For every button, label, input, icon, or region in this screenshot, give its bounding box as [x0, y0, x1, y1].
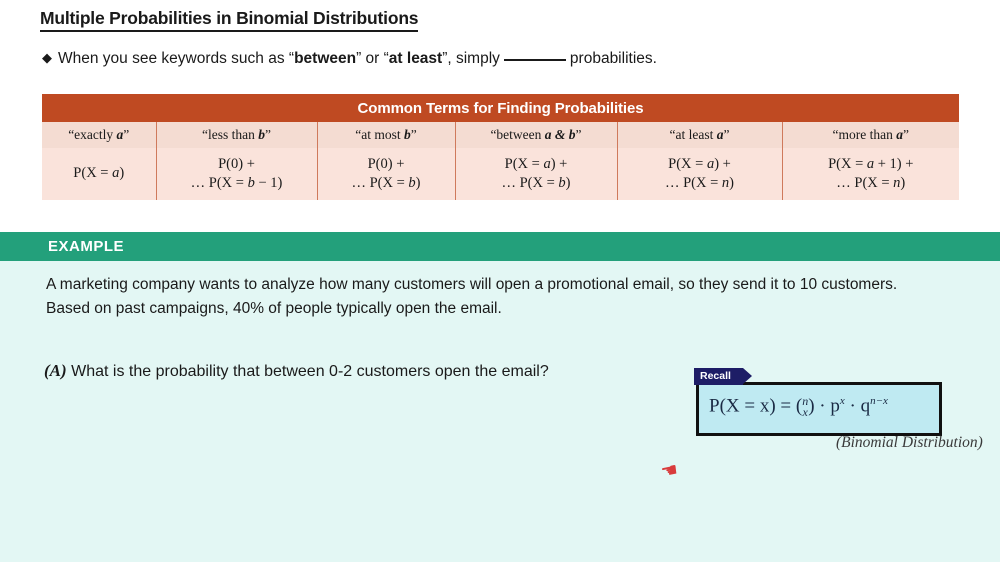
column-header-more-than-a: “more than a”	[782, 122, 959, 148]
formula-cell-exactly-a: P(X = a)	[42, 148, 156, 200]
table-formula-row: P(X = a) P(0) + … P(X = b − 1) P(0) + … …	[42, 148, 959, 200]
col5-header-var: a	[896, 127, 903, 142]
col3-header-post: ”	[576, 127, 582, 142]
formula-line-2: … P(X = b)	[458, 174, 615, 193]
formula-line-1: P(X = a) +	[620, 155, 780, 174]
col5-header-pre: “more than	[833, 127, 897, 142]
col0-header-pre: “exactly	[68, 127, 116, 142]
formula-cell-between-a-b: P(X = a) + … P(X = b)	[455, 148, 617, 200]
bullet-text-suffix: probabilities.	[570, 50, 657, 67]
column-header-less-than-b: “less than b”	[156, 122, 317, 148]
slide-top-section: Multiple Probabilities in Binomial Distr…	[0, 0, 1000, 232]
keyword-at-least: at least	[389, 50, 442, 67]
formula-exponent-n-minus-x: n−x	[870, 395, 888, 407]
bullet-text-after: ”, simply	[442, 50, 500, 67]
col5-header-post: ”	[903, 127, 909, 142]
f5-l1-pre: P(X =	[828, 156, 867, 172]
f1-l2-post: − 1)	[255, 175, 283, 191]
formula-line-1: P(X = a) +	[458, 155, 615, 174]
f3-l1-var: a	[543, 156, 550, 172]
recall-formula-card: P(X = x) = (nx) · px · qn−x	[696, 382, 942, 436]
col4-header-post: ”	[723, 127, 729, 142]
formula-cell-less-than-b: P(0) + … P(X = b − 1)	[156, 148, 317, 200]
f2-l2-post: )	[416, 175, 421, 191]
f3-l1-pre: P(X =	[505, 156, 544, 172]
example-banner: EXAMPLE	[0, 232, 1000, 261]
col3-header-pre: “between	[490, 127, 544, 142]
formula-line-1: P(X = a)	[44, 164, 154, 183]
f4-l1-post: ) +	[714, 156, 731, 172]
formula-cell-at-most-b: P(0) + … P(X = b)	[317, 148, 455, 200]
f3-l2-pre: … P(X =	[501, 175, 558, 191]
formula-line-2: … P(X = b − 1)	[159, 174, 315, 193]
binomial-formula: P(X = x) = (nx) · px · qn−x	[709, 395, 888, 418]
common-terms-table: Common Terms for Finding Probabilities “…	[42, 94, 959, 200]
table-header-row: “exactly a” “less than b” “at most b” “b…	[42, 122, 959, 148]
formula-line-1: P(0) +	[159, 155, 315, 174]
f2-l1-pre: P(0) +	[368, 156, 405, 172]
f5-l2-pre: … P(X =	[836, 175, 893, 191]
f5-l1-post: + 1) +	[874, 156, 913, 172]
formula-line-2: … P(X = n)	[620, 174, 780, 193]
table-title-row: Common Terms for Finding Probabilities	[42, 94, 959, 122]
fill-in-blank	[504, 48, 566, 61]
recall-caption: (Binomial Distribution)	[836, 434, 983, 452]
f1-l2-pre: … P(X =	[191, 175, 248, 191]
formula-mid: · q	[845, 395, 870, 416]
col4-header-pre: “at least	[670, 127, 717, 142]
f1-l2-var: b	[248, 175, 255, 191]
formula-left: P(X = x) = (	[709, 395, 802, 416]
col2-header-var: b	[404, 127, 411, 142]
column-header-exactly-a: “exactly a”	[42, 122, 156, 148]
example-label: EXAMPLE	[48, 238, 124, 255]
col1-header-var: b	[258, 127, 265, 142]
col0-header-post: ”	[123, 127, 129, 142]
example-prompt-text: A marketing company wants to analyze how…	[46, 273, 908, 321]
column-header-at-least-a: “at least a”	[617, 122, 782, 148]
question-a: (A) What is the probability that between…	[44, 361, 549, 381]
f0-l1-pre: P(X =	[73, 165, 112, 181]
col1-header-post: ”	[265, 127, 271, 142]
column-header-between-a-b: “between a & b”	[455, 122, 617, 148]
f4-l2-pre: … P(X =	[665, 175, 722, 191]
bullet-statement: ◆When you see keywords such as “between”…	[42, 47, 657, 70]
keyword-between: between	[294, 50, 356, 67]
f3-l1-post: ) +	[551, 156, 568, 172]
f1-l1-pre: P(0) +	[218, 156, 255, 172]
f2-l2-pre: … P(X =	[351, 175, 408, 191]
bullet-text-mid: ” or “	[356, 50, 389, 67]
bullet-text-prefix: When you see keywords such as “	[58, 50, 294, 67]
formula-line-2: … P(X = b)	[320, 174, 453, 193]
formula-right: ) · p	[808, 395, 840, 416]
f3-l2-var: b	[558, 175, 565, 191]
f2-l2-var: b	[408, 175, 415, 191]
f3-l2-post: )	[566, 175, 571, 191]
col2-header-post: ”	[411, 127, 417, 142]
col2-header-pre: “at most	[355, 127, 404, 142]
recall-tag: Recall	[694, 368, 743, 385]
f0-l1-post: )	[119, 165, 124, 181]
formula-line-1: P(X = a + 1) +	[785, 155, 958, 174]
diamond-bullet-icon: ◆	[42, 47, 52, 69]
col1-header-pre: “less than	[202, 127, 258, 142]
f5-l2-post: )	[900, 175, 905, 191]
page-title: Multiple Probabilities in Binomial Distr…	[40, 8, 418, 32]
f4-l1-pre: P(X =	[668, 156, 707, 172]
formula-line-1: P(0) +	[320, 155, 453, 174]
question-a-label: (A)	[44, 361, 67, 380]
table-title: Common Terms for Finding Probabilities	[42, 94, 959, 122]
formula-line-2: … P(X = n)	[785, 174, 958, 193]
f4-l2-post: )	[729, 175, 734, 191]
col3-header-var: a & b	[545, 127, 576, 142]
formula-cell-at-least-a: P(X = a) + … P(X = n)	[617, 148, 782, 200]
formula-cell-more-than-a: P(X = a + 1) + … P(X = n)	[782, 148, 959, 200]
question-a-text: What is the probability that between 0-2…	[71, 363, 549, 380]
column-header-at-most-b: “at most b”	[317, 122, 455, 148]
